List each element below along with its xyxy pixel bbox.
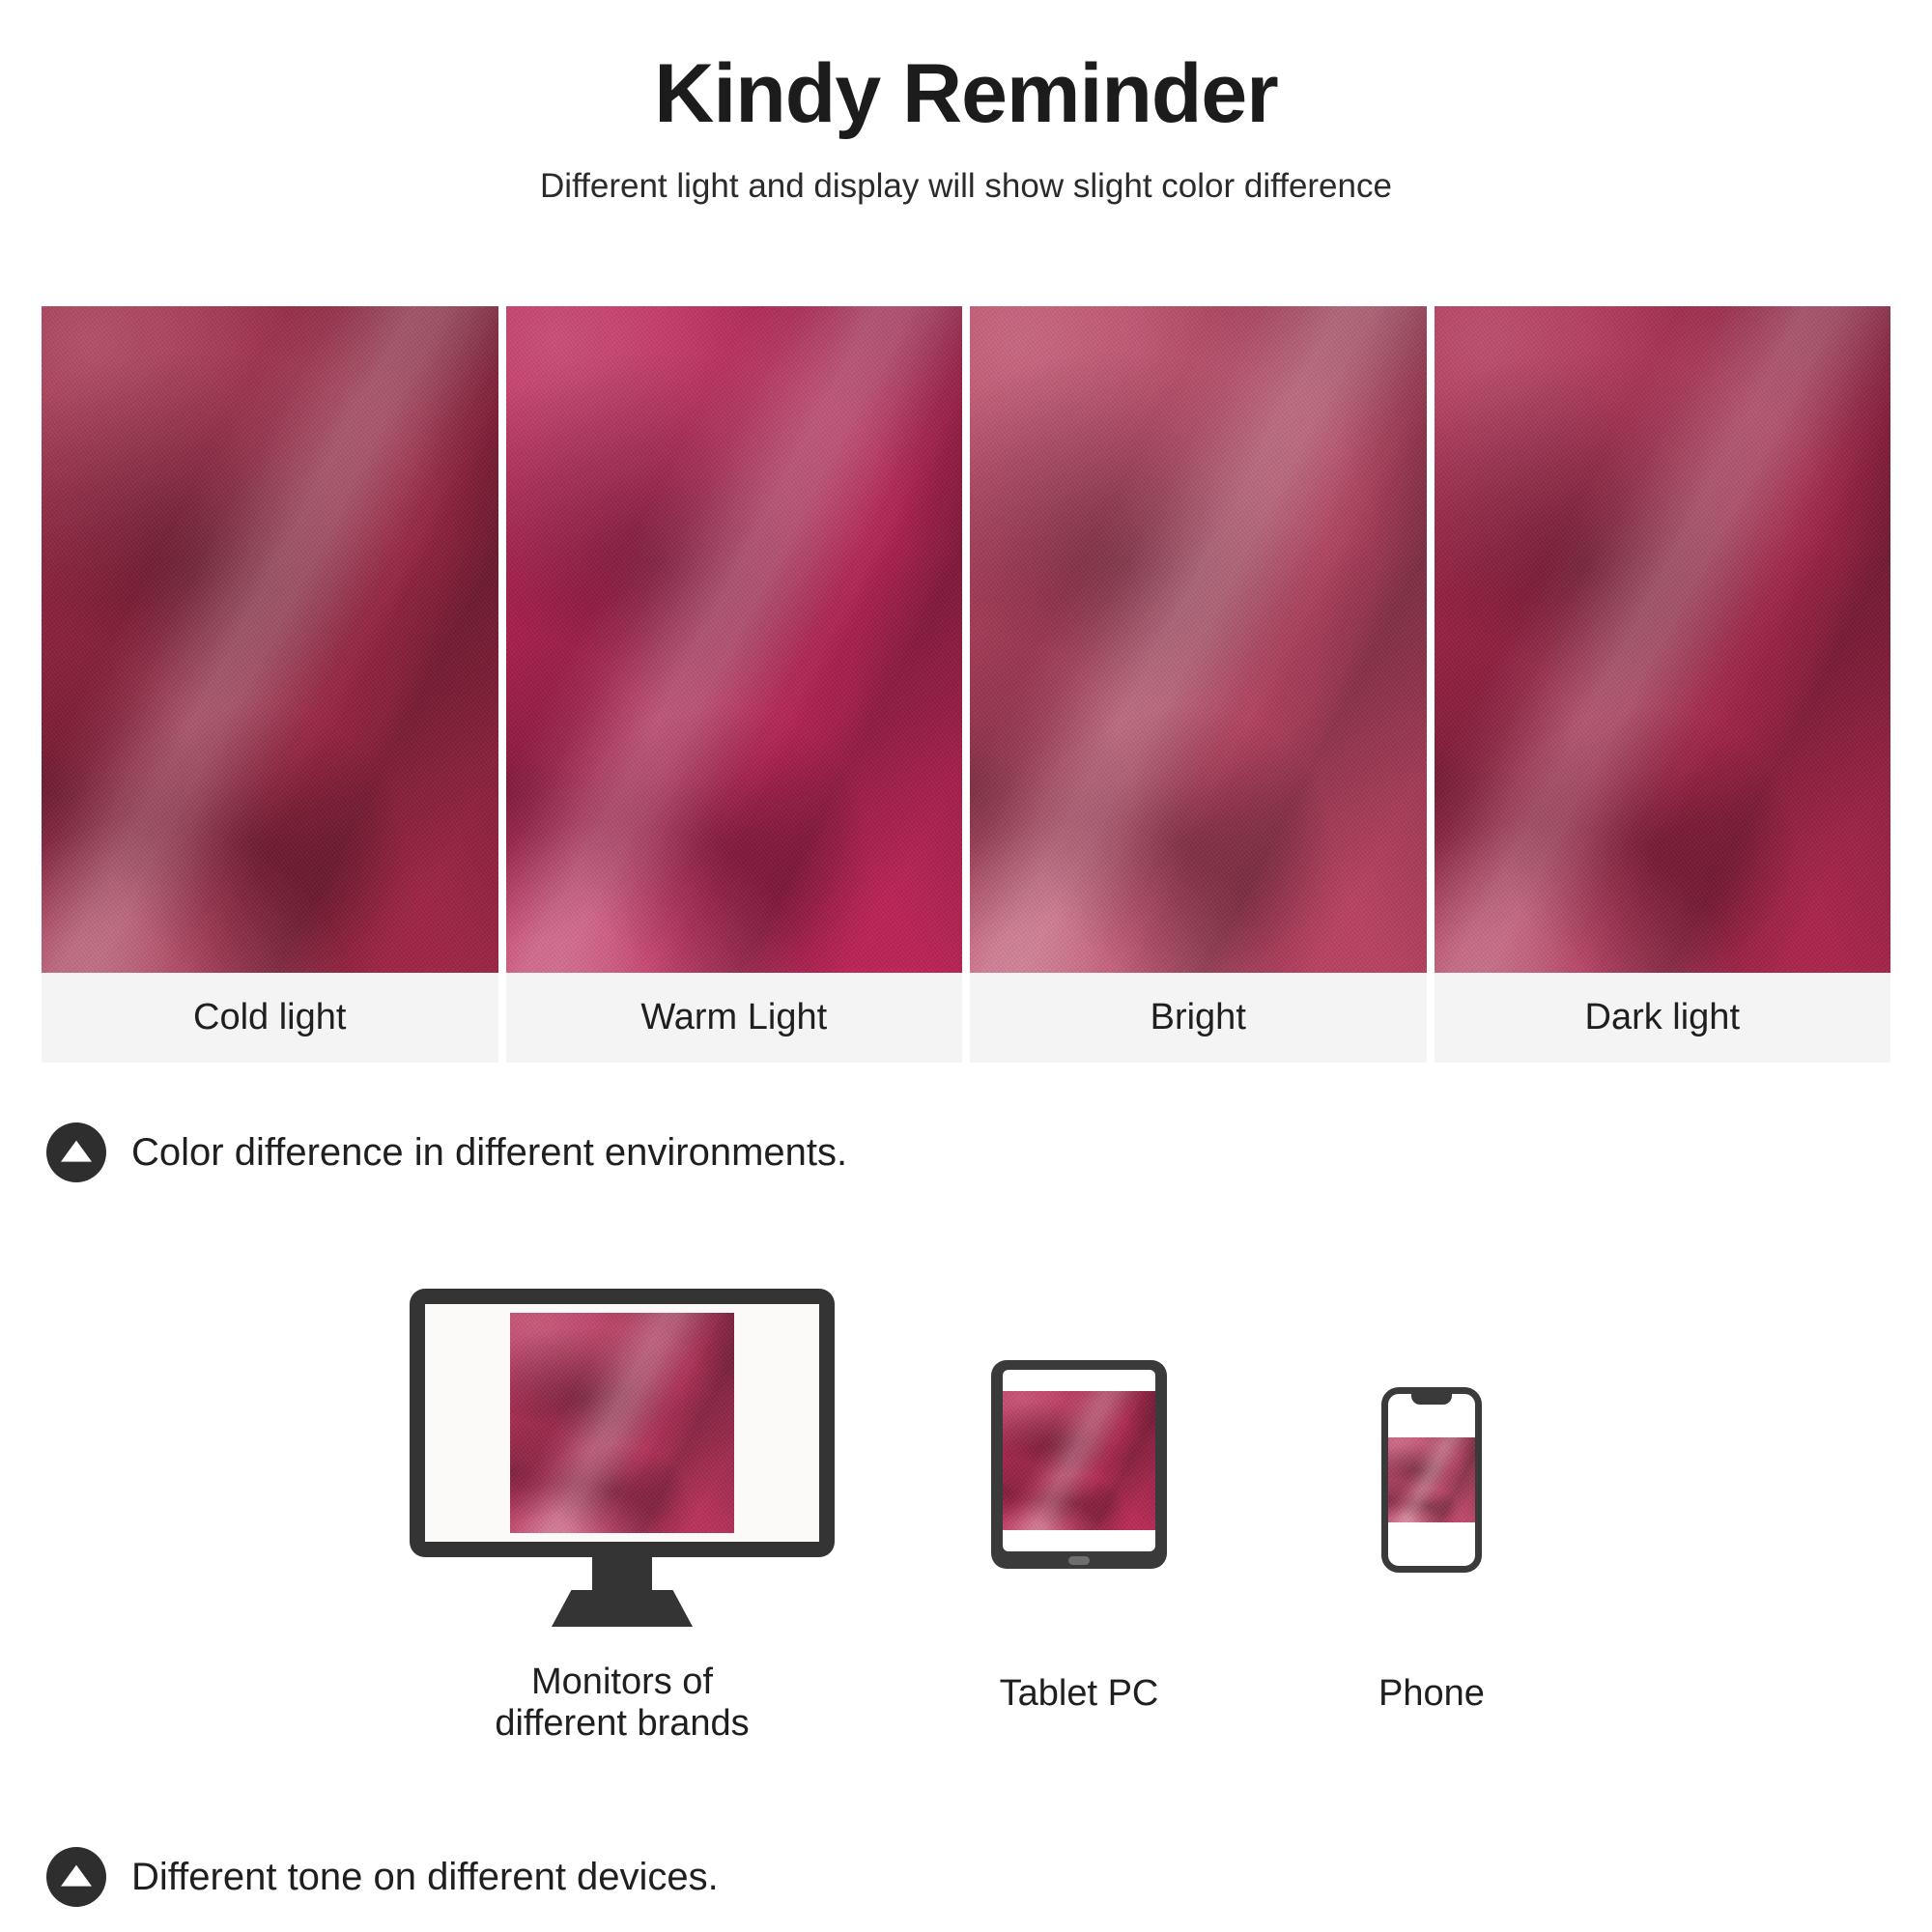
note-device-tone: Different tone on different devices. bbox=[46, 1847, 719, 1907]
device-label-tablet: Tablet PC bbox=[972, 1673, 1186, 1715]
tablet-icon bbox=[991, 1360, 1167, 1569]
fabric-weave-texture bbox=[970, 306, 1427, 973]
monitor-icon bbox=[410, 1289, 835, 1627]
page-title: Kindy Reminder bbox=[0, 50, 1932, 137]
note-text: Color difference in different environmen… bbox=[131, 1131, 847, 1174]
note-text: Different tone on different devices. bbox=[131, 1856, 719, 1898]
phone-icon bbox=[1381, 1387, 1482, 1573]
monitor-frame bbox=[410, 1289, 835, 1557]
fabric-swatch-image bbox=[506, 306, 963, 973]
monitor-neck bbox=[592, 1557, 652, 1590]
fabric-weave-texture bbox=[1388, 1437, 1475, 1522]
swatch-label: Dark light bbox=[1435, 973, 1891, 1063]
swatch-label: Warm Light bbox=[506, 973, 963, 1063]
lighting-comparison-row: Cold light Warm Light bbox=[42, 306, 1890, 1063]
phone-notch bbox=[1411, 1392, 1452, 1405]
fabric-weave-texture bbox=[42, 306, 498, 973]
note-color-difference: Color difference in different environmen… bbox=[46, 1122, 847, 1182]
swatch-cold-light: Cold light bbox=[42, 306, 498, 1063]
tablet-fabric-image bbox=[1003, 1391, 1155, 1530]
fabric-weave-texture bbox=[506, 306, 963, 973]
monitor-stand-base bbox=[552, 1590, 693, 1627]
phone-fabric-image bbox=[1388, 1437, 1475, 1522]
swatch-bright: Bright bbox=[970, 306, 1427, 1063]
triangle-up-circle-icon bbox=[46, 1847, 106, 1907]
phone-frame bbox=[1381, 1387, 1482, 1573]
page-subtitle: Different light and display will show sl… bbox=[0, 166, 1932, 207]
fabric-swatch-image bbox=[1435, 306, 1891, 973]
swatch-label: Bright bbox=[970, 973, 1427, 1063]
fabric-weave-texture bbox=[510, 1313, 734, 1533]
monitor-fabric-image bbox=[510, 1313, 734, 1533]
monitor-screen bbox=[425, 1304, 819, 1542]
swatch-label: Cold light bbox=[42, 973, 498, 1063]
fabric-weave-texture bbox=[1435, 306, 1891, 973]
tablet-frame bbox=[991, 1360, 1167, 1569]
swatch-dark-light: Dark light bbox=[1435, 306, 1891, 1063]
device-label-phone: Phone bbox=[1350, 1673, 1513, 1715]
device-label-monitor: Monitors of different brands bbox=[410, 1662, 835, 1744]
header: Kindy Reminder Different light and displ… bbox=[0, 0, 1932, 207]
fabric-weave-texture bbox=[1003, 1391, 1155, 1530]
fabric-swatch-image bbox=[970, 306, 1427, 973]
fabric-swatch-image bbox=[42, 306, 498, 973]
tablet-home-button bbox=[1068, 1556, 1090, 1565]
swatch-warm-light: Warm Light bbox=[506, 306, 963, 1063]
triangle-up-circle-icon bbox=[46, 1122, 106, 1182]
tablet-screen bbox=[1003, 1370, 1155, 1551]
device-comparison-row: Monitors of different brands Tablet PC P… bbox=[0, 1275, 1932, 1816]
